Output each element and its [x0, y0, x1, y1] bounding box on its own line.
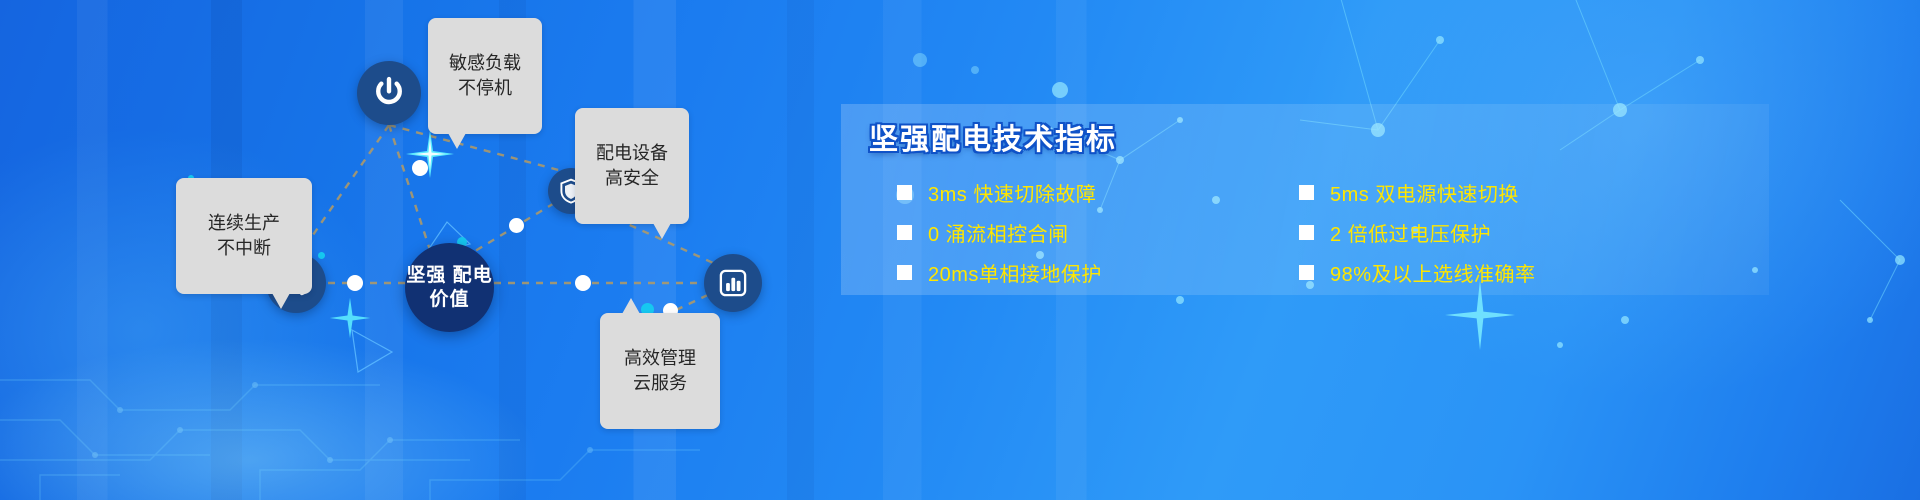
bullet-square-icon [1299, 265, 1314, 280]
metric-item: 3ms 快速切除故障 [897, 172, 1277, 212]
callout-tail [622, 298, 640, 314]
bullet-square-icon [1299, 225, 1314, 240]
tech-specs-panel: 坚强配电技术指标 3ms 快速切除故障 5ms 双电源快速切换 0 涌流相控合闸… [841, 104, 1769, 295]
callout-tail [653, 223, 671, 239]
metrics-grid: 3ms 快速切除故障 5ms 双电源快速切换 0 涌流相控合闸 2 倍低过电压保… [897, 172, 1757, 292]
metric-label: 3ms 快速切除故障 [928, 178, 1096, 207]
bullet-square-icon [1299, 185, 1314, 200]
metric-label: 5ms 双电源快速切换 [1330, 178, 1519, 207]
power-icon [372, 76, 406, 110]
bullet-square-icon [897, 225, 912, 240]
accent-dot [318, 252, 325, 259]
metric-item: 20ms单相接地保护 [897, 252, 1277, 292]
node-power[interactable] [357, 61, 421, 125]
value-diagram: 坚强 配电 价值 敏感负载 不停机 配电设备 高安全 连续生产 不中断 高效管理… [0, 0, 840, 500]
metric-item: 2 倍低过电压保护 [1299, 212, 1679, 252]
metric-item: 5ms 双电源快速切换 [1299, 172, 1679, 212]
callout-text: 敏感负载 不停机 [449, 53, 521, 97]
link-dot [509, 218, 524, 233]
link-dot [575, 275, 591, 291]
bullet-square-icon [897, 185, 912, 200]
panel-title: 坚强配电技术指标 [869, 116, 1117, 158]
callout-sensitive-load: 敏感负载 不停机 [428, 18, 542, 134]
callout-continuous-production: 连续生产 不中断 [176, 178, 312, 294]
callout-tail [272, 293, 290, 309]
callout-cloud-service: 高效管理 云服务 [600, 313, 720, 429]
metric-label: 20ms单相接地保护 [928, 258, 1102, 287]
metric-item: 98%及以上选线准确率 [1299, 252, 1679, 292]
metric-label: 0 涌流相控合闸 [928, 218, 1069, 247]
promo-banner: 坚强 配电 价值 敏感负载 不停机 配电设备 高安全 连续生产 不中断 高效管理… [0, 0, 1920, 500]
node-bar-chart[interactable] [704, 254, 762, 312]
metric-item: 0 涌流相控合闸 [897, 212, 1277, 252]
center-node-label: 坚强 配电 价值 [405, 264, 494, 312]
link-dot [347, 275, 363, 291]
bar-chart-icon [718, 268, 748, 298]
metric-label: 98%及以上选线准确率 [1330, 258, 1536, 287]
sparkle-icon [328, 296, 372, 340]
metric-label: 2 倍低过电压保护 [1330, 218, 1491, 247]
callout-text: 高效管理 云服务 [624, 348, 696, 392]
callout-text: 连续生产 不中断 [208, 213, 280, 257]
callout-equipment-safety: 配电设备 高安全 [575, 108, 689, 224]
bullet-square-icon [897, 265, 912, 280]
callout-tail [448, 133, 466, 149]
callout-text: 配电设备 高安全 [596, 143, 668, 187]
center-node[interactable]: 坚强 配电 价值 [405, 243, 494, 332]
link-dot [412, 160, 428, 176]
